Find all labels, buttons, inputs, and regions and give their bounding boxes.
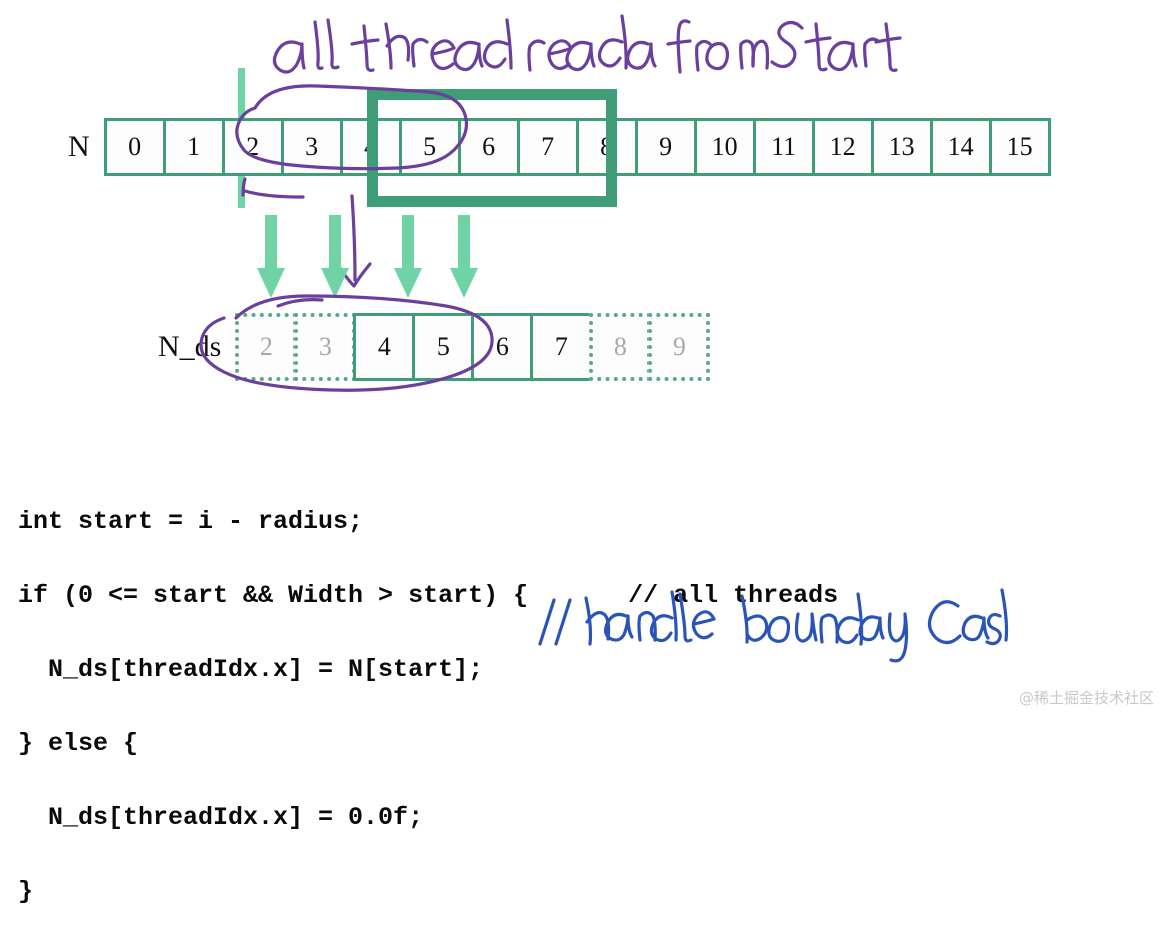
n-cell: 12 <box>812 118 874 176</box>
code-line-wrapper: if (0 <= start && Width > start) {// all… <box>18 577 838 614</box>
nds-array-row: N_ds 2 3 4 5 6 7 8 9 <box>158 313 710 381</box>
thread-arrow-group <box>257 215 478 298</box>
code-line: } else { <box>18 725 838 762</box>
n-cell: 14 <box>930 118 992 176</box>
code-line: } <box>18 873 838 910</box>
nds-cell: 3 <box>294 313 356 381</box>
n-cell: 13 <box>871 118 933 176</box>
handwritten-note-top <box>274 16 900 72</box>
purple-circle-tail <box>243 179 303 197</box>
nds-cell: 2 <box>235 313 297 381</box>
purple-arrow-down <box>340 196 370 286</box>
n-cell: 15 <box>989 118 1051 176</box>
nds-cell: 4 <box>353 313 415 381</box>
thread-arrow-icon <box>450 215 478 298</box>
thread-arrow-icon <box>321 215 349 298</box>
n-cell: 11 <box>753 118 815 176</box>
nds-array-cells: 2 3 4 5 6 7 8 9 <box>235 313 710 381</box>
n-cell: 1 <box>163 118 225 176</box>
tile-highlight-rectangle <box>367 89 617 207</box>
nds-cell: 9 <box>648 313 710 381</box>
code-line: if (0 <= start && Width > start) { <box>18 581 528 610</box>
n-array-label: N <box>68 132 90 162</box>
code-line: int start = i - radius; <box>18 503 838 540</box>
n-cell: 10 <box>694 118 756 176</box>
nds-array-label: N_ds <box>158 332 221 362</box>
code-line: N_ds[threadIdx.x] = 0.0f; <box>18 799 838 836</box>
watermark: @稀土掘金技术社区 <box>1019 687 1154 708</box>
thread-arrow-icon <box>394 215 422 298</box>
nds-cell: 7 <box>530 313 592 381</box>
n-cell: 9 <box>635 118 697 176</box>
purple-circle-nds-tail <box>278 300 322 306</box>
thread-arrow-icon <box>257 215 285 298</box>
code-line: N_ds[threadIdx.x] = N[start]; <box>18 651 838 688</box>
nds-cell: 6 <box>471 313 533 381</box>
n-cell: 3 <box>281 118 343 176</box>
nds-cell: 5 <box>412 313 474 381</box>
code-block: int start = i - radius; if (0 <= start &… <box>18 466 838 947</box>
n-cell: 2 <box>222 118 284 176</box>
code-comment-all-threads: // all threads <box>628 577 838 614</box>
nds-cell: 8 <box>589 313 651 381</box>
n-cell: 0 <box>104 118 166 176</box>
